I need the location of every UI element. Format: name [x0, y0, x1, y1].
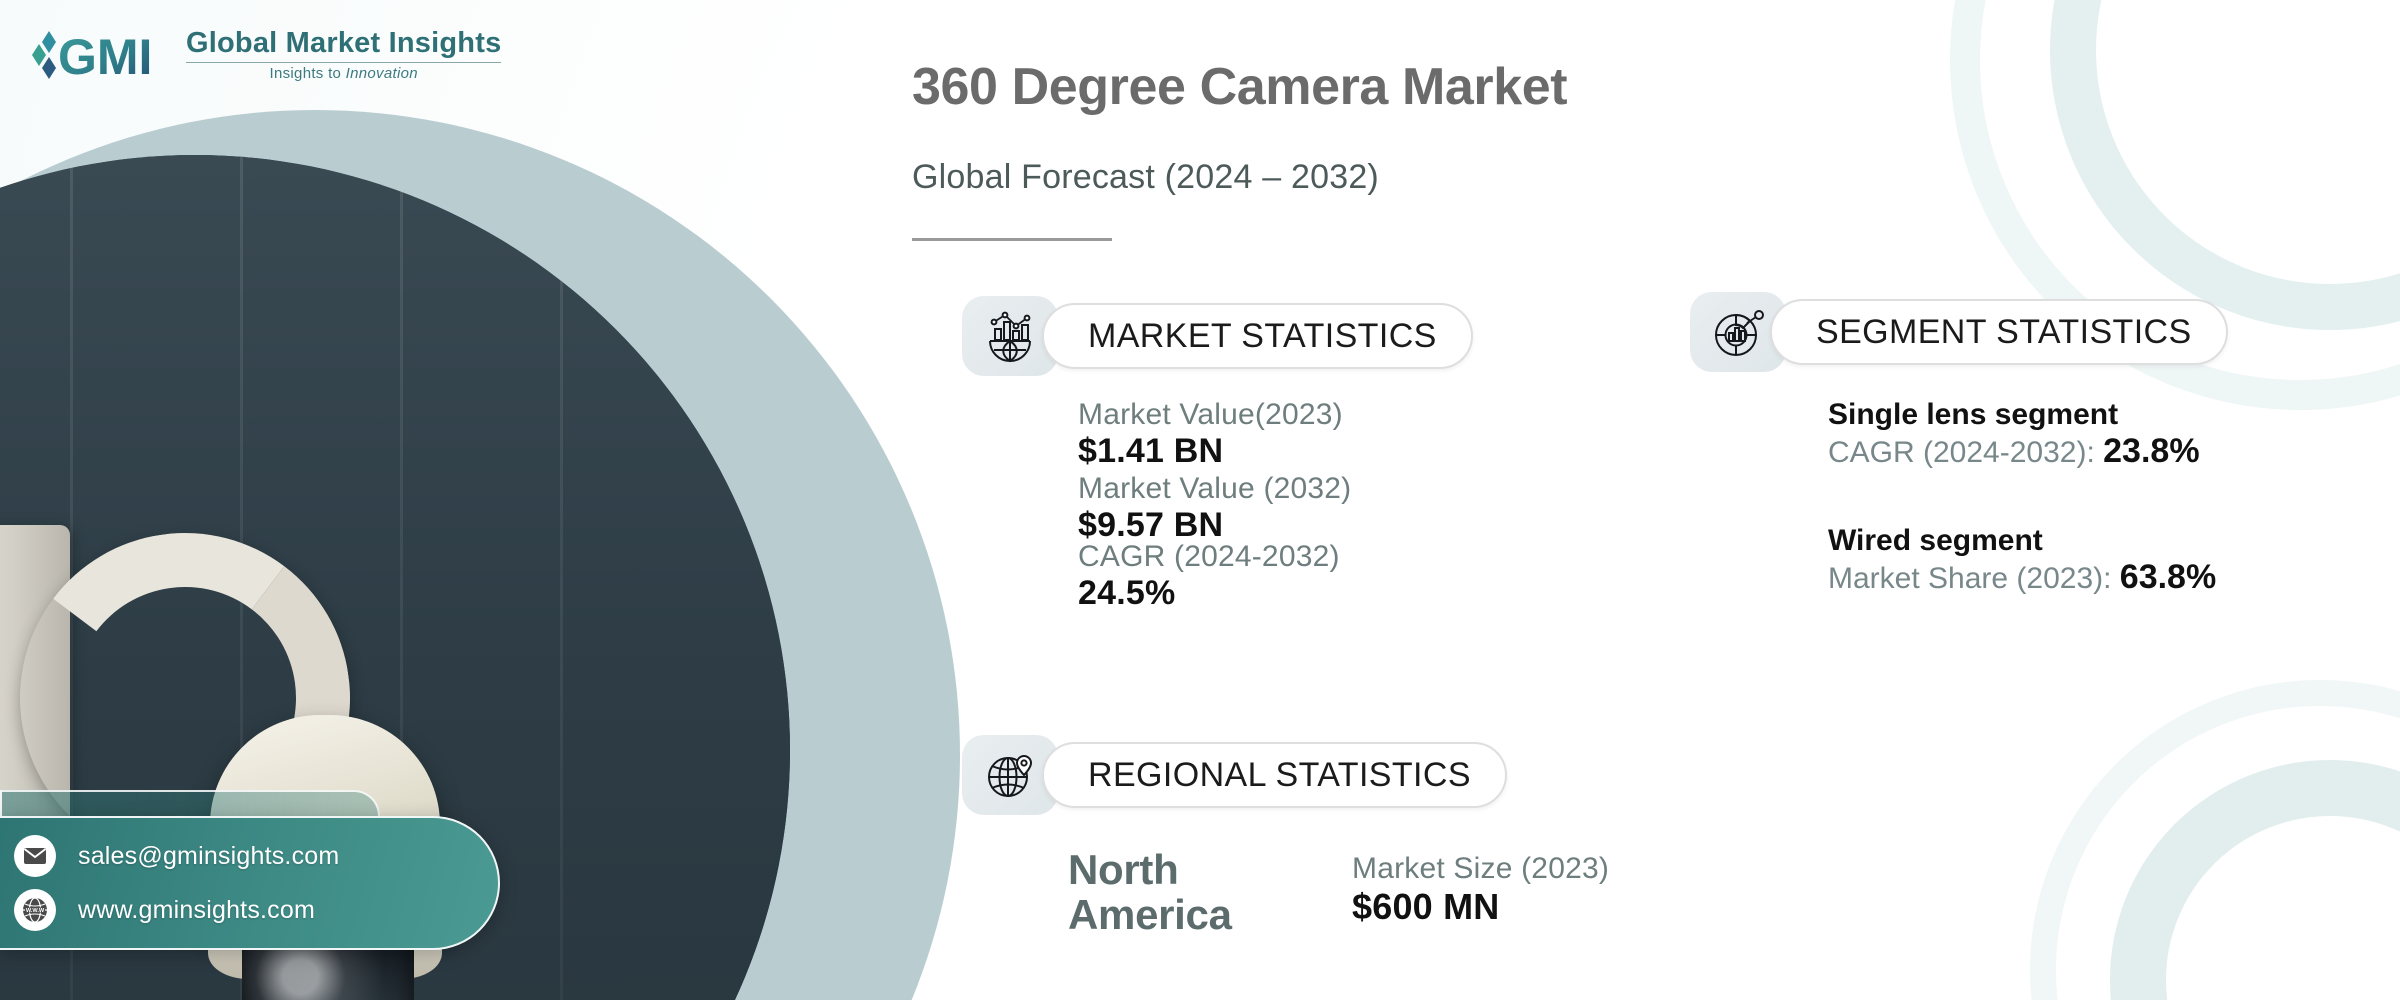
segment-statistics-label: SEGMENT STATISTICS [1816, 313, 2192, 352]
market-statistics-badge[interactable]: MARKET STATISTICS [962, 296, 1473, 376]
segment-metric-label-0: CAGR (2024-2032): [1828, 436, 2103, 469]
regional-statistics-badge[interactable]: REGIONAL STATISTICS [962, 735, 1507, 815]
segment-metric-value-0: 23.8% [2103, 432, 2199, 470]
market-stat-label-2: CAGR (2024-2032) [1078, 540, 1340, 574]
contact-email-row[interactable]: sales@gminsights.com [14, 835, 498, 877]
segment-statistics-badge[interactable]: SEGMENT STATISTICS [1690, 292, 2228, 372]
regional-statistics-pill: REGIONAL STATISTICS [1042, 742, 1507, 808]
region-metric-value: $600 MN [1352, 886, 1609, 928]
gmi-diamond-logo-icon: GMI [24, 24, 172, 86]
market-stat-row-0: Market Value(2023) $1.41 BN [1078, 398, 1343, 471]
svg-text:GMI: GMI [58, 29, 152, 85]
region-name-line-1: North [1068, 848, 1232, 893]
segment-item-0: Single lens segment CAGR (2024-2032): 23… [1828, 398, 2200, 471]
gmi-logo-divider [186, 62, 501, 63]
segment-metric-1: Market Share (2023): 63.8% [1828, 558, 2216, 597]
segment-metric-value-1: 63.8% [2120, 558, 2216, 596]
page-title: 360 Degree Camera Market [912, 57, 1567, 117]
contact-email: sales@gminsights.com [78, 842, 339, 871]
gmi-logo-text: Global Market Insights Insights to Innov… [186, 28, 501, 82]
region-name-line-2: America [1068, 893, 1232, 938]
segment-title-1: Wired segment [1828, 524, 2216, 558]
segment-metric-label-1: Market Share (2023): [1828, 562, 2120, 595]
market-stat-value-2: 24.5% [1078, 574, 1340, 613]
region-metric-label: Market Size (2023) [1352, 852, 1609, 886]
contact-box: sales@gminsights.com W.W.W www.gminsight… [0, 816, 500, 950]
gmi-logo[interactable]: GMI Global Market Insights Insights to I… [24, 24, 501, 86]
infographic-canvas: sales@gminsights.com W.W.W www.gminsight… [0, 0, 2400, 1000]
region-metric: Market Size (2023) $600 MN [1352, 852, 1609, 928]
page-subtitle: Global Forecast (2024 – 2032) [912, 158, 1379, 197]
regional-statistics-label: REGIONAL STATISTICS [1088, 756, 1471, 795]
segment-metric-0: CAGR (2024-2032): 23.8% [1828, 432, 2200, 471]
market-stat-row-1: Market Value (2032) $9.57 BN [1078, 472, 1351, 545]
segment-statistics-pill: SEGMENT STATISTICS [1770, 299, 2228, 365]
content-column: 360 Degree Camera Market Global Forecast… [900, 0, 2400, 1000]
gmi-tagline-italic: Innovation [346, 65, 418, 82]
market-statistics-pill: MARKET STATISTICS [1042, 303, 1473, 369]
gmi-tagline-plain: Insights to [270, 65, 346, 82]
market-stat-value-0: $1.41 BN [1078, 432, 1343, 471]
segment-item-1: Wired segment Market Share (2023): 63.8% [1828, 524, 2216, 597]
svg-text:W.W.W: W.W.W [26, 908, 45, 914]
market-stat-label-1: Market Value (2032) [1078, 472, 1351, 506]
envelope-icon [14, 835, 56, 877]
market-statistics-label: MARKET STATISTICS [1088, 317, 1437, 356]
title-underline [912, 238, 1112, 241]
contact-website: www.gminsights.com [78, 896, 315, 925]
contact-website-row[interactable]: W.W.W www.gminsights.com [14, 889, 498, 931]
market-stat-label-0: Market Value(2023) [1078, 398, 1343, 432]
gmi-logo-title: Global Market Insights [186, 28, 501, 58]
www-globe-icon: W.W.W [14, 889, 56, 931]
gmi-logo-tagline: Insights to Innovation [186, 65, 501, 82]
segment-title-0: Single lens segment [1828, 398, 2200, 432]
region-name: North America [1068, 848, 1232, 937]
market-stat-row-2: CAGR (2024-2032) 24.5% [1078, 540, 1340, 613]
